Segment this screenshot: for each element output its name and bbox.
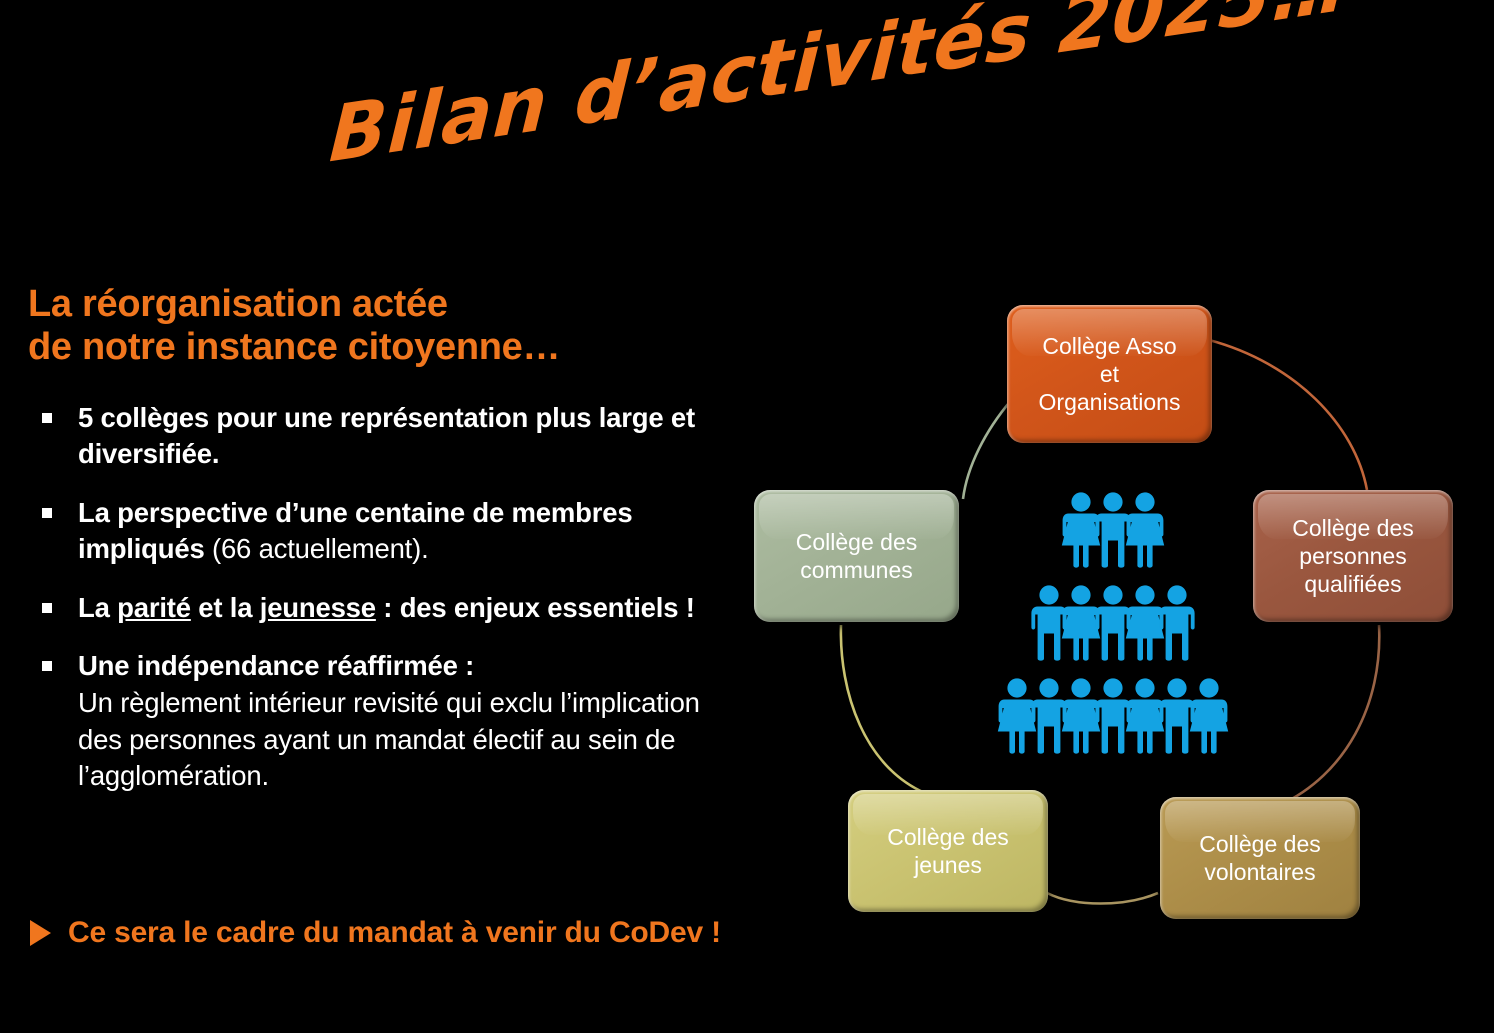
node-communes-line-2: communes [796, 556, 917, 584]
arc-qualifiees-to-volontaires [1280, 625, 1379, 805]
list-item: La parité et la jeunesse : des enjeux es… [28, 590, 728, 627]
cycle-diagram: Collège Asso et Organisations Collège de… [735, 285, 1490, 925]
bullet-text-4-bold: Une indépendance réaffirmée : [78, 650, 474, 681]
bullet-list: 5 collèges pour une représentation plus … [28, 400, 728, 795]
square-bullet-icon [42, 661, 52, 671]
list-item: Une indépendance réaffirmée : Un règleme… [28, 648, 728, 794]
node-communes-line-1: Collège des [796, 528, 917, 556]
arc-asso-to-qualifiees [1209, 340, 1367, 490]
square-bullet-icon [42, 508, 52, 518]
list-item: La perspective d’une centaine de membres… [28, 495, 728, 568]
bullet-text-3-c: et la [191, 592, 260, 623]
arc-jeunes-to-communes [841, 625, 925, 793]
node-qualifiees-line-2: personnes [1292, 542, 1413, 570]
bullet-text-3-parite: parité [117, 592, 191, 623]
node-qualifiees-line-3: qualifiées [1292, 570, 1413, 598]
bullet-text-1: 5 collèges pour une représentation plus … [78, 402, 695, 470]
content-column: La réorganisation actée de notre instanc… [28, 283, 728, 817]
title-area: Bilan d’activités 2025… [310, 60, 1150, 210]
people-pyramid-icon [988, 487, 1238, 759]
bullet-text-4-sub: Un règlement intérieur revisité qui excl… [78, 685, 728, 795]
bullet-text-3-jeunesse: jeunesse [260, 592, 376, 623]
bullet-text-2-normal: (66 actuellement). [205, 533, 429, 564]
subheading: La réorganisation actée de notre instanc… [28, 283, 728, 370]
triangle-bullet-icon [30, 920, 51, 946]
node-jeunes-line-1: Collège des [887, 823, 1008, 851]
bullet-text-3-a: La [78, 592, 117, 623]
node-volontaires-line-1: Collège des [1199, 830, 1320, 858]
subheading-line-1: La réorganisation actée [28, 283, 728, 326]
cycle-node-asso[interactable]: Collège Asso et Organisations [1007, 305, 1212, 443]
node-jeunes-line-2: jeunes [887, 851, 1008, 879]
cycle-node-personnes-qualifiees[interactable]: Collège des personnes qualifiées [1253, 490, 1453, 622]
square-bullet-icon [42, 603, 52, 613]
node-volontaires-line-2: volontaires [1199, 858, 1320, 886]
bullet-text-3-e: : des enjeux essentiels ! [376, 592, 695, 623]
footer-text: Ce sera le cadre du mandat à venir du Co… [68, 916, 721, 950]
node-asso-line-2: et [1039, 360, 1181, 388]
list-item: 5 collèges pour une représentation plus … [28, 400, 728, 473]
people-pyramid-svg [988, 487, 1238, 759]
node-qualifiees-line-1: Collège des [1292, 514, 1413, 542]
node-asso-line-1: Collège Asso [1039, 332, 1181, 360]
cycle-node-jeunes[interactable]: Collège des jeunes [848, 790, 1048, 912]
page-title: Bilan d’activités 2025… [327, 0, 1351, 180]
slide-canvas: Bilan d’activités 2025… La réorganisatio… [0, 0, 1494, 1033]
footer-callout: Ce sera le cadre du mandat à venir du Co… [30, 916, 721, 950]
node-asso-line-3: Organisations [1039, 388, 1181, 416]
arc-volontaires-to-jeunes [1047, 893, 1158, 904]
square-bullet-icon [42, 413, 52, 423]
cycle-node-communes[interactable]: Collège des communes [754, 490, 959, 622]
cycle-node-volontaires[interactable]: Collège des volontaires [1160, 797, 1360, 919]
subheading-line-2: de notre instance citoyenne… [28, 326, 728, 369]
